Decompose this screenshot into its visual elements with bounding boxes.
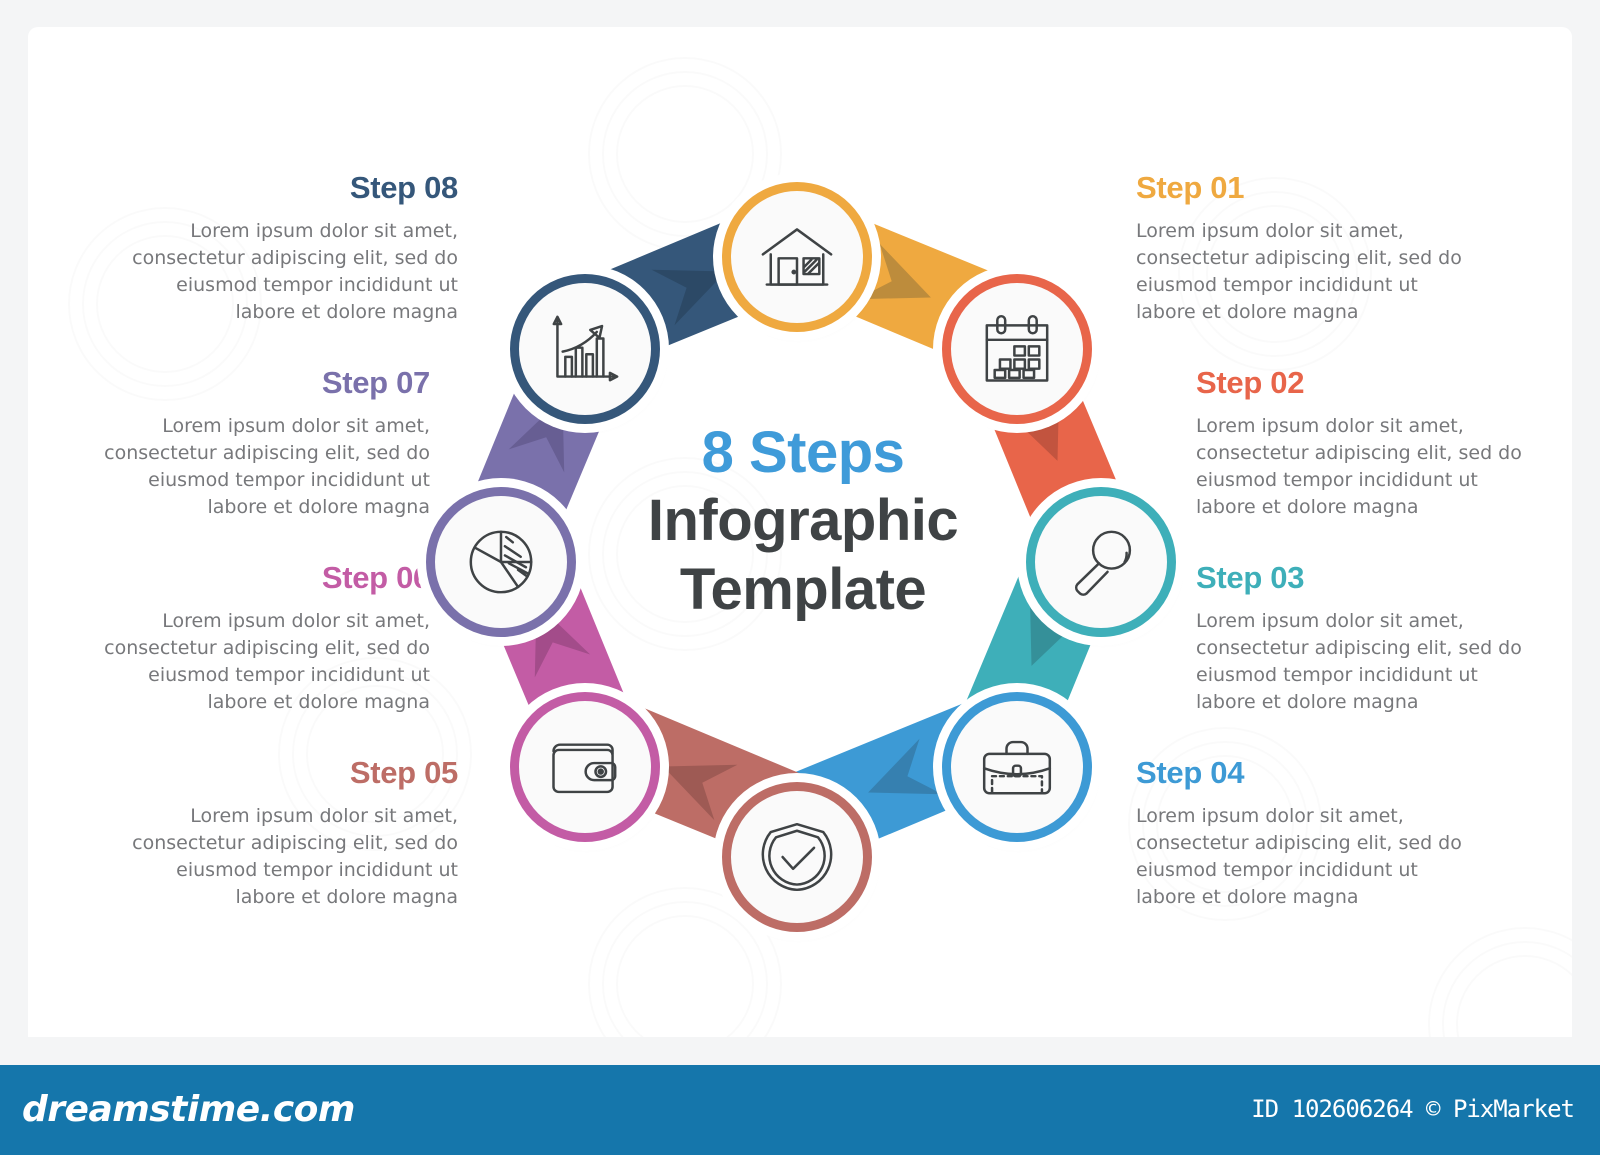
step-title-08: Step 08 <box>118 172 458 203</box>
step-desc-01: Lorem ipsum dolor sit amet, consectetur … <box>1136 218 1476 326</box>
center-title-line1: 8 Steps <box>568 419 1038 487</box>
step-text-02: Step 02 Lorem ipsum dolor sit amet, cons… <box>1196 367 1536 521</box>
step-node-05[interactable] <box>722 782 872 932</box>
center-title: 8 Steps Infographic Template <box>568 419 1038 624</box>
step-node-01[interactable] <box>722 182 872 332</box>
step-text-07: Step 07 Lorem ipsum dolor sit amet, cons… <box>90 367 430 521</box>
step-node-02[interactable] <box>942 274 1092 424</box>
step-title-06: Step 06 <box>90 562 430 593</box>
step-text-04: Step 04 Lorem ipsum dolor sit amet, cons… <box>1136 757 1476 911</box>
step-node-06[interactable] <box>510 692 660 842</box>
step-text-08: Step 08 Lorem ipsum dolor sit amet, cons… <box>118 172 458 326</box>
step-desc-05: Lorem ipsum dolor sit amet, consectetur … <box>118 803 458 911</box>
step-title-04: Step 04 <box>1136 757 1476 788</box>
step-node-03[interactable] <box>1026 487 1176 637</box>
dreamstime-logo: dreamstime.com <box>22 1089 355 1130</box>
step-desc-03: Lorem ipsum dolor sit amet, consectetur … <box>1196 608 1536 716</box>
node-ring-04 <box>942 692 1092 842</box>
watermark-spiral <box>1428 927 1572 1037</box>
step-title-05: Step 05 <box>118 757 458 788</box>
step-desc-07: Lorem ipsum dolor sit amet, consectetur … <box>90 413 430 521</box>
step-text-03: Step 03 Lorem ipsum dolor sit amet, cons… <box>1196 562 1536 716</box>
center-title-line2: Infographic <box>568 487 1038 555</box>
step-desc-02: Lorem ipsum dolor sit amet, consectetur … <box>1196 413 1536 521</box>
step-text-01: Step 01 Lorem ipsum dolor sit amet, cons… <box>1136 172 1476 326</box>
step-desc-06: Lorem ipsum dolor sit amet, consectetur … <box>90 608 430 716</box>
node-ring-02 <box>942 274 1092 424</box>
center-title-line3: Template <box>568 556 1038 624</box>
step-title-03: Step 03 <box>1196 562 1536 593</box>
step-desc-08: Lorem ipsum dolor sit amet, consectetur … <box>118 218 458 326</box>
infographic-canvas: 8 Steps Infographic Template Step 01 Lor… <box>28 27 1572 1037</box>
node-ring-06 <box>510 692 660 842</box>
step-text-06: Step 06 Lorem ipsum dolor sit amet, cons… <box>90 562 430 716</box>
node-ring-03 <box>1026 487 1176 637</box>
footer-bar: dreamstime.com ID 102606264 © PixMarket <box>0 1065 1600 1155</box>
node-ring-07 <box>426 487 576 637</box>
step-desc-04: Lorem ipsum dolor sit amet, consectetur … <box>1136 803 1476 911</box>
node-ring-05 <box>722 782 872 932</box>
step-text-05: Step 05 Lorem ipsum dolor sit amet, cons… <box>118 757 458 911</box>
step-title-01: Step 01 <box>1136 172 1476 203</box>
step-node-07[interactable] <box>426 487 576 637</box>
step-node-04[interactable] <box>942 692 1092 842</box>
step-title-02: Step 02 <box>1196 367 1536 398</box>
step-node-08[interactable] <box>510 274 660 424</box>
step-title-07: Step 07 <box>90 367 430 398</box>
image-credit: ID 102606264 © PixMarket <box>1251 1095 1574 1123</box>
node-ring-08 <box>510 274 660 424</box>
node-ring-01 <box>722 182 872 332</box>
